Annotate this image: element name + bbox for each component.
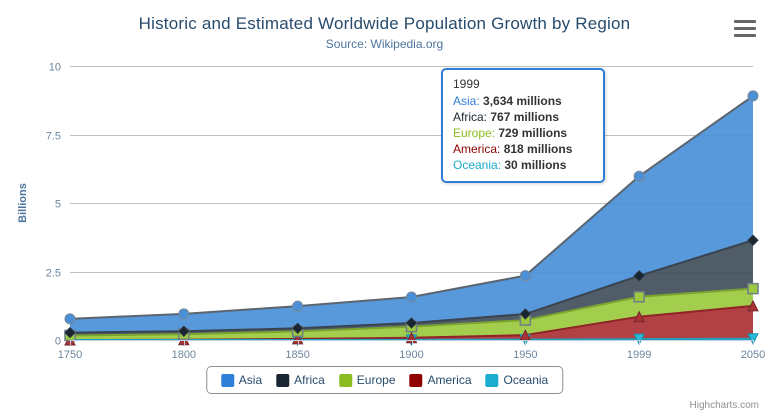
credits-label[interactable]: Highcharts.com: [690, 400, 759, 411]
tooltip-row-america: America: 818 millions: [453, 141, 593, 157]
data-point-asia-1900[interactable]: [407, 292, 417, 302]
x-axis-tick-label: 1999: [627, 349, 651, 361]
legend-swatch-icon: [486, 374, 499, 387]
y-axis-tick-label: 2.5: [46, 268, 61, 280]
data-point-asia-1999[interactable]: [634, 171, 644, 181]
tooltip-series-value: 818 millions: [504, 142, 573, 156]
legend-item-oceania[interactable]: Oceania: [486, 373, 549, 387]
data-point-asia-2050[interactable]: [748, 91, 758, 101]
tooltip-row-asia: Asia: 3,634 millions: [453, 93, 593, 109]
y-axis-tick-label: 0: [55, 336, 61, 348]
tooltip: 1999 Asia: 3,634 millionsAfrica: 767 mil…: [441, 68, 605, 183]
data-point-asia-1750[interactable]: [65, 314, 75, 324]
tooltip-series-value: 3,634 millions: [483, 94, 562, 108]
legend-swatch-icon: [339, 374, 352, 387]
legend-item-label: Oceania: [504, 373, 549, 387]
tooltip-series-value: 767 millions: [490, 110, 559, 124]
tooltip-rows: Asia: 3,634 millionsAfrica: 767 millions…: [453, 93, 593, 173]
tooltip-series-value: 729 millions: [498, 126, 567, 140]
y-axis-title: Billions: [17, 183, 29, 223]
legend-item-label: America: [428, 373, 472, 387]
legend-item-africa[interactable]: Africa: [276, 373, 325, 387]
tooltip-series-name: America:: [453, 142, 504, 156]
data-point-asia-1950[interactable]: [520, 271, 530, 281]
data-point-europe-1999[interactable]: [634, 292, 644, 302]
legend-item-label: Europe: [357, 373, 396, 387]
x-axis-tick-label: 1900: [399, 349, 423, 361]
tooltip-row-africa: Africa: 767 millions: [453, 109, 593, 125]
highcharts-container: Historic and Estimated Worldwide Populat…: [0, 0, 769, 416]
legend-swatch-icon: [410, 374, 423, 387]
tooltip-series-value: 30 millions: [504, 158, 566, 172]
x-axis-tick-label: 1950: [513, 349, 537, 361]
x-axis-tick-label: 1750: [58, 349, 82, 361]
tooltip-series-name: Oceania:: [453, 158, 504, 172]
legend-item-label: Africa: [294, 373, 325, 387]
y-axis-tick-label: 7.5: [46, 131, 61, 143]
y-axis-tick-label: 10: [49, 62, 61, 74]
tooltip-row-europe: Europe: 729 millions: [453, 125, 593, 141]
legend-item-label: Asia: [239, 373, 262, 387]
legend-item-america[interactable]: America: [410, 373, 472, 387]
data-point-asia-1800[interactable]: [179, 309, 189, 319]
plot-area: 02.557.510Billions1750180018501900195019…: [0, 0, 769, 416]
tooltip-series-name: Asia:: [453, 94, 483, 108]
x-axis-tick-label: 1850: [285, 349, 309, 361]
legend-swatch-icon: [276, 374, 289, 387]
tooltip-series-name: Europe:: [453, 126, 498, 140]
data-point-europe-2050[interactable]: [748, 284, 758, 294]
chart-legend: AsiaAfricaEuropeAmericaOceania: [206, 366, 563, 394]
legend-item-europe[interactable]: Europe: [339, 373, 396, 387]
y-axis-tick-label: 5: [55, 199, 61, 211]
legend-swatch-icon: [221, 374, 234, 387]
x-axis-tick-label: 2050: [741, 349, 765, 361]
tooltip-row-oceania: Oceania: 30 millions: [453, 157, 593, 173]
legend-item-asia[interactable]: Asia: [221, 373, 262, 387]
x-axis-tick-label: 1800: [172, 349, 196, 361]
tooltip-header: 1999: [453, 77, 593, 91]
tooltip-series-name: Africa:: [453, 110, 490, 124]
data-point-asia-1850[interactable]: [293, 301, 303, 311]
